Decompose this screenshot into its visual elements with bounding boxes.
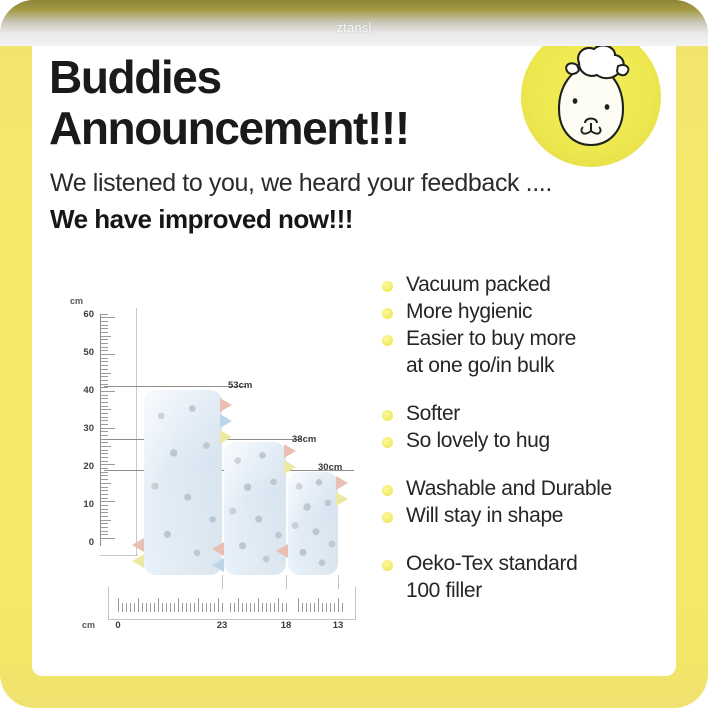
feature-group-4: Oeko-Tex standard 100 filler (382, 551, 672, 604)
vertical-ruler-tick (101, 373, 111, 374)
fabric-tag-icon (336, 476, 348, 490)
list-item-label: Washable and Durable (406, 476, 612, 502)
vertical-ruler-tick (101, 468, 108, 469)
horizontal-ruler-tick (338, 598, 339, 612)
vertical-ruler-tick (101, 464, 115, 465)
fabric-tag-icon (132, 538, 144, 552)
horizontal-ruler-tick (154, 603, 155, 612)
horizontal-ruler-tick (326, 603, 327, 612)
horizontal-ruler-tick (166, 603, 167, 612)
vertical-ruler-tick (101, 490, 108, 491)
bullet-dot-icon (382, 410, 393, 421)
vertical-ruler-tick (101, 391, 115, 392)
vertical-ruler-tick (101, 505, 108, 506)
vertical-ruler-tick (101, 494, 108, 495)
horizontal-ruler-tick (158, 598, 159, 612)
horizontal-ruler-tick (298, 598, 299, 612)
horizontal-ruler-tick (130, 603, 131, 612)
list-item: Vacuum packed (382, 272, 672, 298)
list-item: More hygienic (382, 299, 672, 325)
list-item-label: Softer (406, 401, 460, 427)
vertical-ruler-tick (101, 487, 108, 488)
vertical-ruler-tick (101, 343, 108, 344)
horizontal-ruler-tick (222, 603, 223, 612)
fabric-tag-icon (132, 554, 144, 568)
vertical-ruler-tick (101, 512, 108, 513)
fabric-tag-icon (220, 398, 232, 412)
vertical-ruler-tick (101, 516, 108, 517)
list-item: Washable and Durable (382, 476, 672, 502)
subtitle-text: We listened to you, we heard your feedba… (50, 168, 552, 198)
horizontal-ruler-tick (198, 598, 199, 612)
vertical-ruler-tick (101, 442, 108, 443)
vertical-ruler-tick (101, 523, 108, 524)
vertical-ruler-tick (101, 501, 115, 502)
vertical-ruler-tick (101, 435, 108, 436)
sheep-icon (539, 41, 643, 153)
list-item-label: Will stay in shape (406, 503, 563, 529)
fabric-tag-icon (212, 558, 224, 572)
chart-frame-left (136, 308, 137, 555)
vertical-ruler-tick (101, 413, 108, 414)
horizontal-ruler-tick (286, 603, 287, 612)
horizontal-ruler-tick (150, 603, 151, 612)
list-item-label: 100 filler (406, 578, 482, 604)
vertical-ruler-tick (101, 380, 108, 381)
x-tick-0: 0 (115, 620, 120, 631)
list-item-continuation: 100 filler (382, 578, 672, 604)
sheep-logo (521, 32, 661, 167)
leader-line-53 (104, 386, 246, 387)
vertical-ruler-tick (101, 358, 108, 359)
pillow-small (288, 472, 338, 575)
horizontal-ruler-tick (230, 603, 231, 612)
title-line-1: Buddies (49, 52, 519, 103)
horizontal-ruler-tick (330, 603, 331, 612)
horizontal-ruler-tick (170, 603, 171, 612)
vertical-ruler-tick (101, 483, 111, 484)
vertical-ruler-tick (101, 538, 115, 539)
horizontal-ruler-tick (306, 603, 307, 612)
vertical-ruler-tick (101, 347, 108, 348)
size-label-medium: 38cm (292, 434, 316, 445)
vertical-ruler-tick (101, 384, 108, 385)
horizontal-ruler-tick (182, 603, 183, 612)
size-chart: cm 60 50 40 30 20 10 0 (46, 294, 376, 654)
y-tick-40: 40 (68, 385, 94, 396)
bullet-dot-icon (382, 437, 393, 448)
size-label-large: 53cm (228, 380, 252, 391)
bullet-dot-icon (382, 335, 393, 346)
size-label-small: 30cm (318, 462, 342, 473)
fabric-tag-icon (220, 414, 232, 428)
feature-list: Vacuum packed More hygienic Easier to bu… (382, 272, 672, 605)
vertical-ruler-tick (101, 520, 111, 521)
x-tick-18: 18 (281, 620, 292, 631)
list-item-label: Oeko-Tex standard (406, 551, 577, 577)
vertical-ruler-tick (101, 424, 108, 425)
watermark-text: ztansl (0, 20, 708, 35)
bullet-dot-icon (382, 308, 393, 319)
horizontal-ruler-tick (310, 603, 311, 612)
pillow-shading (288, 472, 338, 575)
horizontal-ruler-tick (278, 598, 279, 612)
fabric-tag-icon (212, 542, 224, 556)
bullet-dot-icon (382, 281, 393, 292)
y-tick-60: 60 (68, 309, 94, 320)
white-card: Buddies Announcement!!! We listened to y… (32, 32, 676, 676)
horizontal-ruler-tick (254, 603, 255, 612)
vertical-ruler-tick (101, 365, 108, 366)
poster-root: ztansl Buddies Announcement!!! We listen… (0, 0, 708, 708)
vertical-ruler-tick (101, 498, 108, 499)
list-item: Easier to buy more (382, 326, 672, 352)
horizontal-ruler-tick (122, 603, 123, 612)
list-item: Softer (382, 401, 672, 427)
horizontal-ruler-tick (314, 603, 315, 612)
pillow-shading (144, 390, 222, 575)
horizontal-ruler-tick (142, 603, 143, 612)
vertical-ruler-tick (101, 369, 108, 370)
vertical-ruler-tick (101, 395, 108, 396)
vertical-ruler-tick (101, 420, 108, 421)
horizontal-ruler-tick (174, 603, 175, 612)
horizontal-ruler-tick (146, 603, 147, 612)
vertical-axis-line (100, 314, 101, 546)
vertical-ruler-tick (101, 417, 108, 418)
horizontal-ruler-tick (334, 603, 335, 612)
vertical-ruler-tick (101, 402, 108, 403)
vertical-ruler-tick (101, 428, 115, 429)
feature-group-1: Vacuum packed More hygienic Easier to bu… (382, 272, 672, 379)
vertical-ruler-tick (101, 321, 108, 322)
horizontal-ruler-tick (262, 603, 263, 612)
bullet-dot-icon (382, 560, 393, 571)
vertical-ruler-tick (101, 398, 108, 399)
horizontal-ruler-tick (274, 603, 275, 612)
horizontal-ruler-tick (246, 603, 247, 612)
title-line-2: Announcement!!! (49, 103, 519, 154)
fabric-tag-icon (284, 444, 296, 458)
horizontal-ruler-tick (186, 603, 187, 612)
vertical-ruler-tick (101, 450, 108, 451)
y-tick-10: 10 (68, 499, 94, 510)
list-item-label: at one go/in bulk (406, 353, 554, 379)
x-tick-13: 13 (333, 620, 344, 631)
horizontal-ruler-tick (178, 598, 179, 612)
vertical-ruler-tick (101, 509, 108, 510)
vertical-ruler-tick (101, 457, 108, 458)
horizontal-ruler-tick (238, 598, 239, 612)
vertical-ruler-tick (101, 350, 108, 351)
horizontal-ruler-tick (126, 603, 127, 612)
page-title: Buddies Announcement!!! (49, 52, 519, 154)
horizontal-ruler-tick (202, 603, 203, 612)
horizontal-ruler-tick (322, 603, 323, 612)
vertical-ruler-tick (101, 479, 108, 480)
vertical-ruler-tick (101, 339, 108, 340)
horizontal-ruler-tick (318, 598, 319, 612)
horizontal-ruler-tick (134, 603, 135, 612)
bullet-dot-icon (382, 485, 393, 496)
vertical-ruler-tick (101, 461, 108, 462)
vertical-ruler-tick (101, 475, 108, 476)
horizontal-ruler-tick (194, 603, 195, 612)
list-item: Will stay in shape (382, 503, 672, 529)
fabric-tag-icon (276, 544, 288, 558)
vertical-ruler-tick (101, 409, 111, 410)
feature-group-2: Softer So lovely to hug (382, 401, 672, 454)
vertical-ruler: cm 60 50 40 30 20 10 0 (68, 314, 128, 554)
vertical-ruler-tick (101, 328, 108, 329)
vertical-ruler-tick (101, 531, 108, 532)
horizontal-ruler-tick (270, 603, 271, 612)
horizontal-ruler-ticks (118, 596, 346, 612)
horizontal-ruler-tick (258, 598, 259, 612)
vertical-ruler-tick (101, 336, 111, 337)
pillow-large (144, 390, 222, 575)
vertical-ruler-tick (101, 534, 108, 535)
fabric-tag-icon (336, 492, 348, 506)
horizontal-ruler-tick (118, 598, 119, 612)
horizontal-ruler: cm 0 23 18 13 (108, 586, 356, 632)
y-tick-20: 20 (68, 461, 94, 472)
horizontal-ruler-tick (190, 603, 191, 612)
horizontal-ruler-tick (342, 603, 343, 612)
vertical-ruler-tick (101, 472, 108, 473)
horizontal-ruler-tick (162, 603, 163, 612)
vertical-ruler-tick (101, 431, 108, 432)
list-item: Oeko-Tex standard (382, 551, 672, 577)
vertical-ruler-tick (101, 317, 115, 318)
vertical-ruler-tick (101, 376, 108, 377)
list-item-label: Easier to buy more (406, 326, 576, 352)
vertical-ruler-tick (101, 354, 115, 355)
list-item: So lovely to hug (382, 428, 672, 454)
horizontal-ruler-tick (214, 603, 215, 612)
horizontal-ruler-tick (242, 603, 243, 612)
horizontal-ruler-tick (282, 603, 283, 612)
horizontal-ruler-tick (302, 603, 303, 612)
vertical-ruler-tick (101, 446, 111, 447)
vertical-ruler-tick (101, 527, 108, 528)
list-item-continuation: at one go/in bulk (382, 353, 672, 379)
vertical-ruler-tick (101, 314, 108, 315)
horizontal-ruler-tick (266, 603, 267, 612)
horizontal-ruler-tick (250, 603, 251, 612)
vertical-axis-unit: cm (70, 296, 83, 306)
feature-group-3: Washable and Durable Will stay in shape (382, 476, 672, 529)
horizontal-axis-unit: cm (82, 620, 95, 630)
vertical-ruler-tick (101, 325, 108, 326)
horizontal-ruler-tick (218, 598, 219, 612)
vertical-ruler-tick (101, 387, 108, 388)
emphasis-text: We have improved now!!! (50, 204, 353, 235)
x-tick-23: 23 (217, 620, 228, 631)
horizontal-ruler-tick (210, 603, 211, 612)
bullet-dot-icon (382, 512, 393, 523)
vertical-ruler-tick (101, 406, 108, 407)
list-item-label: Vacuum packed (406, 272, 550, 298)
horizontal-ruler-tick (234, 603, 235, 612)
vertical-ruler-tick (101, 332, 108, 333)
vertical-ruler-tick (101, 361, 108, 362)
y-tick-0: 0 (68, 537, 94, 548)
horizontal-ruler-tick (138, 598, 139, 612)
list-item-label: So lovely to hug (406, 428, 550, 454)
y-tick-30: 30 (68, 423, 94, 434)
vertical-ruler-tick (101, 453, 108, 454)
list-item-label: More hygienic (406, 299, 532, 325)
horizontal-ruler-tick (206, 603, 207, 612)
y-tick-50: 50 (68, 347, 94, 358)
